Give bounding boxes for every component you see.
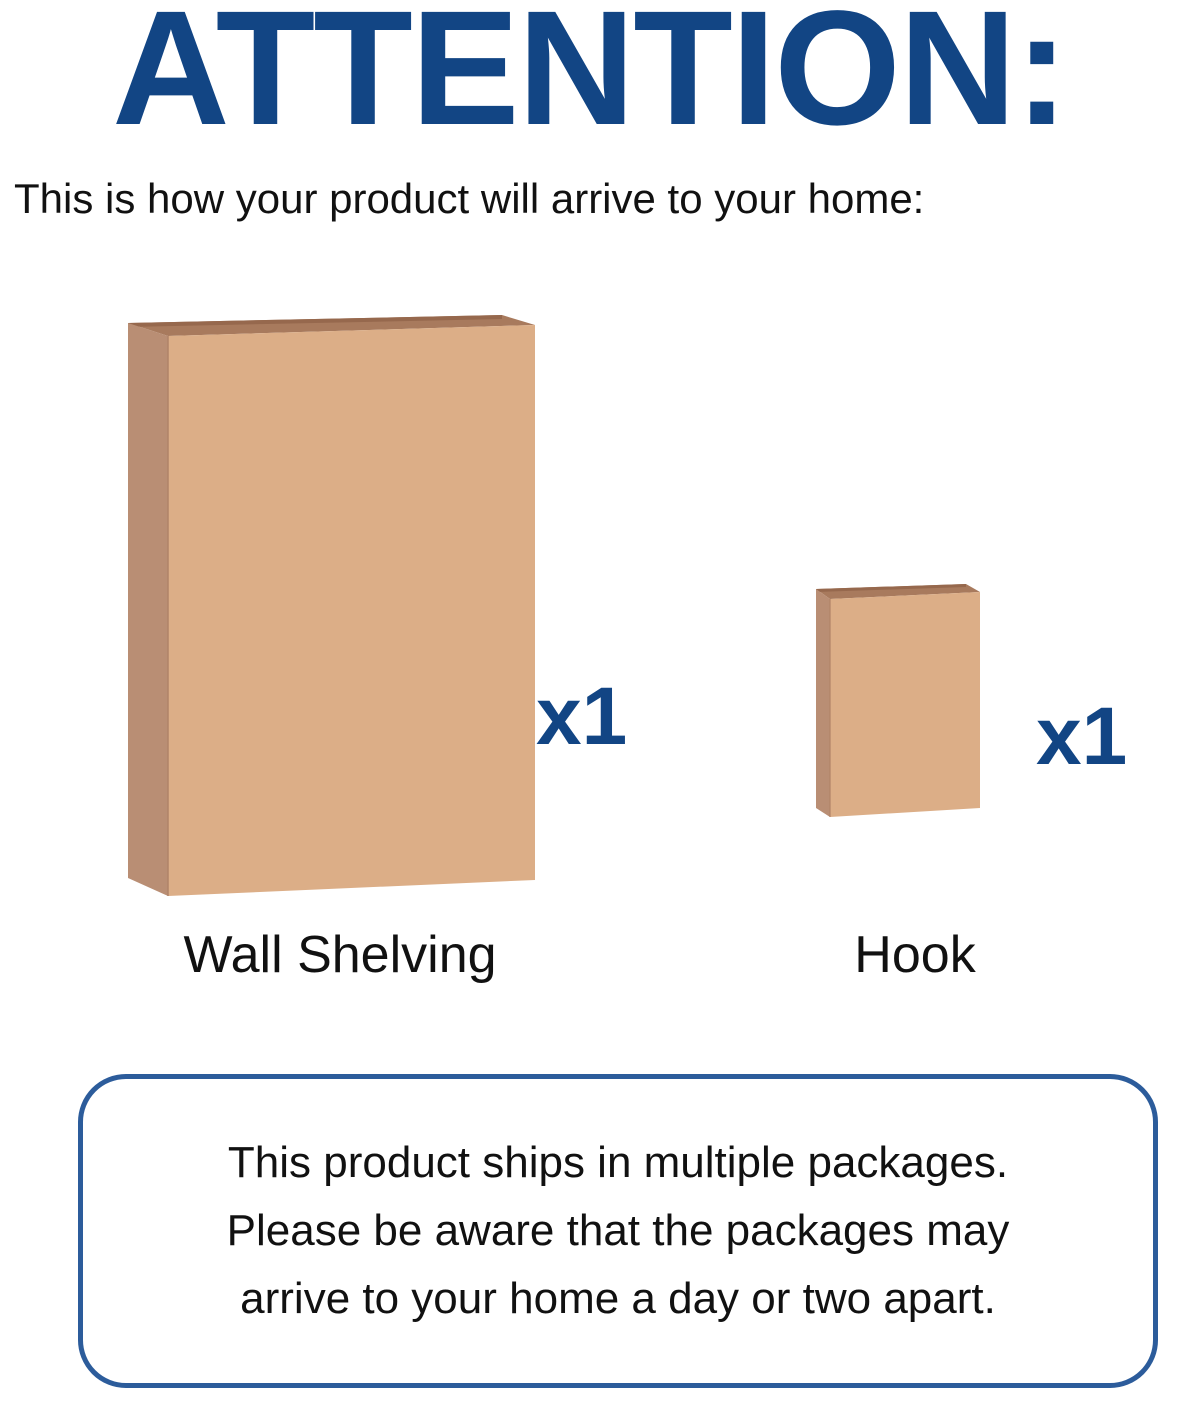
package-caption-hook: Hook [700, 929, 1130, 981]
package-caption-wall-shelving: Wall Shelving [0, 929, 680, 981]
notice-line-3: arrive to your home a day or two apart. [240, 1265, 996, 1333]
package-illustration-group: x1 x1 Wall Shelving Hook [0, 0, 1179, 1010]
notice-line-1: This product ships in multiple packages. [228, 1129, 1008, 1197]
shipping-notice-box: This product ships in multiple packages.… [78, 1074, 1158, 1388]
cardboard-box-icon-wall-shelving [110, 300, 550, 910]
quantity-badge-hook: x1 [1036, 696, 1127, 778]
cardboard-box-icon-hook [800, 570, 1000, 825]
quantity-badge-wall-shelving: x1 [536, 676, 627, 758]
notice-line-2: Please be aware that the packages may [227, 1197, 1010, 1265]
